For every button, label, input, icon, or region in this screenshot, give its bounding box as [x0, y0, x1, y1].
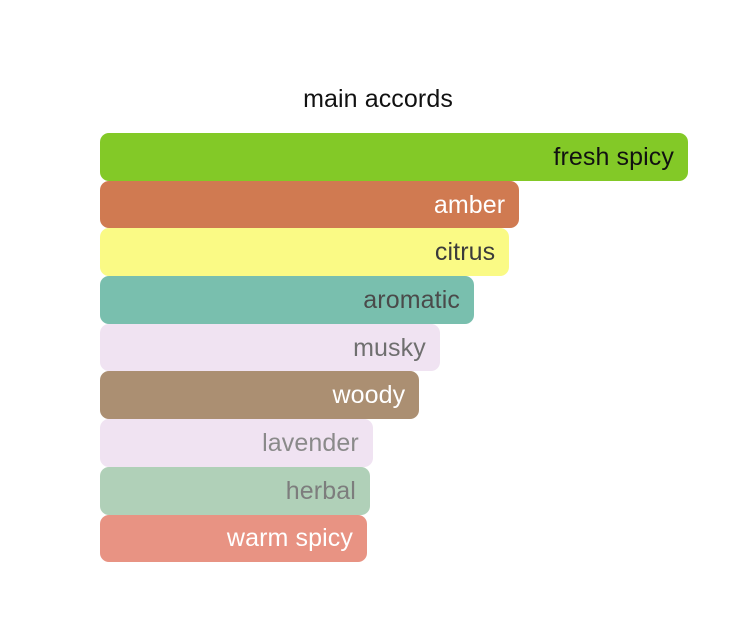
chart-title: main accords	[0, 84, 756, 114]
bar-label: fresh spicy	[553, 144, 674, 170]
bar-herbal[interactable]: herbal	[100, 467, 370, 515]
bar-amber[interactable]: amber	[100, 181, 519, 229]
main-accords-chart: main accords fresh spicyambercitrusaroma…	[0, 0, 756, 640]
bar-row: herbal	[100, 467, 700, 515]
bar-row: amber	[100, 181, 700, 229]
bar-row: woody	[100, 371, 700, 419]
bar-label: amber	[434, 192, 505, 218]
bar-label: warm spicy	[227, 525, 353, 551]
bar-warm-spicy[interactable]: warm spicy	[100, 515, 367, 563]
bar-label: aromatic	[363, 287, 460, 313]
bar-list: fresh spicyambercitrusaromaticmuskywoody…	[100, 133, 700, 563]
bar-label: citrus	[435, 239, 495, 265]
bar-row: warm spicy	[100, 515, 700, 563]
bar-musky[interactable]: musky	[100, 324, 440, 372]
bar-row: fresh spicy	[100, 133, 700, 181]
bar-aromatic[interactable]: aromatic	[100, 276, 474, 324]
bar-row: lavender	[100, 419, 700, 467]
bar-woody[interactable]: woody	[100, 371, 419, 419]
bar-lavender[interactable]: lavender	[100, 419, 373, 467]
bar-row: citrus	[100, 228, 700, 276]
bar-label: herbal	[286, 478, 356, 504]
bar-fresh-spicy[interactable]: fresh spicy	[100, 133, 688, 181]
bar-citrus[interactable]: citrus	[100, 228, 509, 276]
bar-row: aromatic	[100, 276, 700, 324]
bar-label: musky	[353, 335, 426, 361]
bar-label: lavender	[262, 430, 359, 456]
bar-row: musky	[100, 324, 700, 372]
bar-label: woody	[333, 382, 406, 408]
